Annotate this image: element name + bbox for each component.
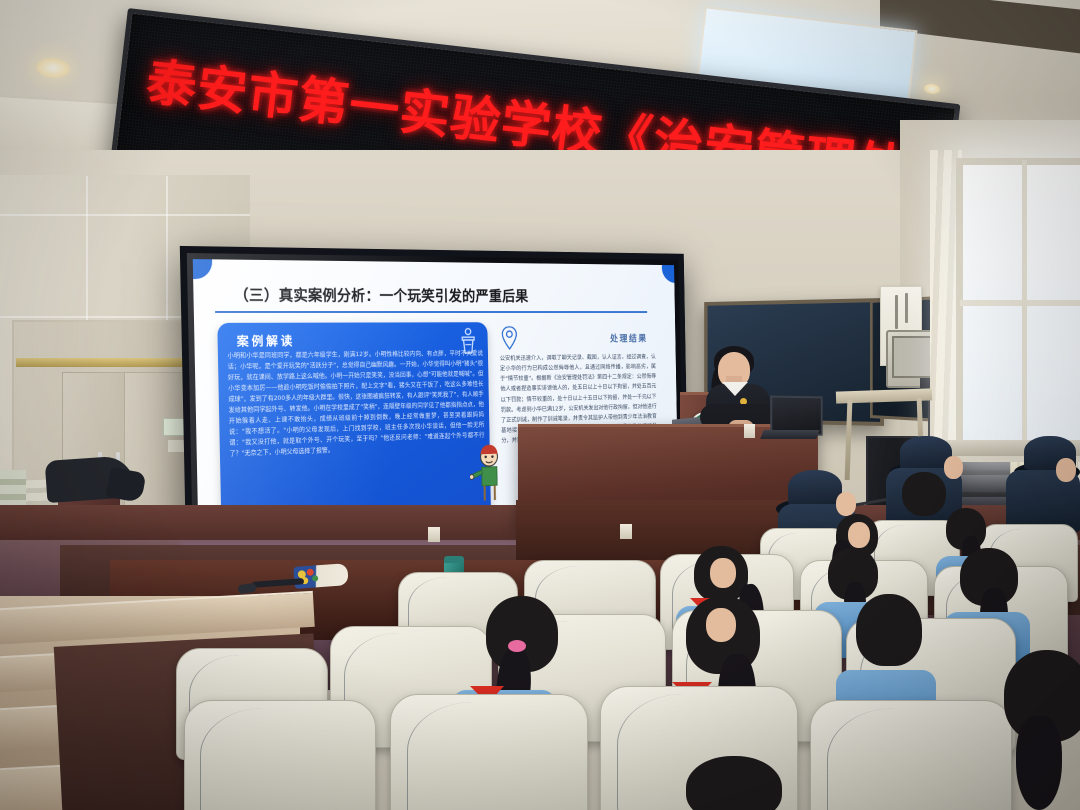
window-mullion [1022, 160, 1027, 448]
hair-tie [508, 640, 526, 652]
case-analysis-panel: 案例解读 小明和小华是同班同学，都是六年级学生，刚满12岁。小明性格比较内向、有… [217, 322, 491, 531]
wall-seam [86, 176, 88, 322]
student-face [710, 558, 736, 588]
case-analysis-body: 小明和小华是同班同学，都是六年级学生，刚满12岁。小明性格比较内向、有点胖，平时… [227, 348, 484, 459]
officer-face [944, 456, 963, 479]
window [956, 158, 1080, 462]
student-head [856, 594, 922, 666]
officer-face [1056, 458, 1076, 482]
water-cup [428, 527, 440, 542]
audience-head [902, 472, 946, 516]
slide-corner-dot [193, 259, 213, 279]
slide-title-rule [215, 311, 647, 313]
student-face [706, 608, 736, 642]
slide-corner-dot [662, 259, 679, 283]
window-mullion [960, 300, 1080, 306]
case-analysis-heading: 案例解读 [237, 330, 296, 349]
result-heading: 处理结果 [610, 331, 648, 345]
wall-seam [166, 176, 168, 322]
pointing-boy-cartoon [469, 444, 509, 507]
location-pin-icon [501, 326, 518, 350]
lecture-hall-photo: 泰安市第一实验学校《治安管理处罚法》法治讲堂 （三）真实案例分析：一个玩笑引发的… [0, 0, 1080, 810]
seat[interactable] [390, 694, 588, 810]
water-cup [744, 424, 755, 438]
officer-face [836, 492, 856, 516]
water-cup [620, 524, 632, 539]
slide-title: （三）真实案例分析：一个玩笑引发的严重后果 [234, 283, 660, 305]
student-ponytail [1016, 716, 1062, 810]
door-header-sign [16, 358, 188, 367]
student-face [848, 522, 870, 548]
laptop-keyboard[interactable] [760, 430, 820, 439]
flower-bouquet [293, 563, 348, 589]
seat[interactable] [184, 700, 376, 810]
seat[interactable] [810, 700, 1012, 810]
student-head [686, 756, 782, 810]
officer-cap [788, 470, 842, 506]
thermos-cap [444, 556, 464, 563]
wall-seam [0, 214, 250, 216]
